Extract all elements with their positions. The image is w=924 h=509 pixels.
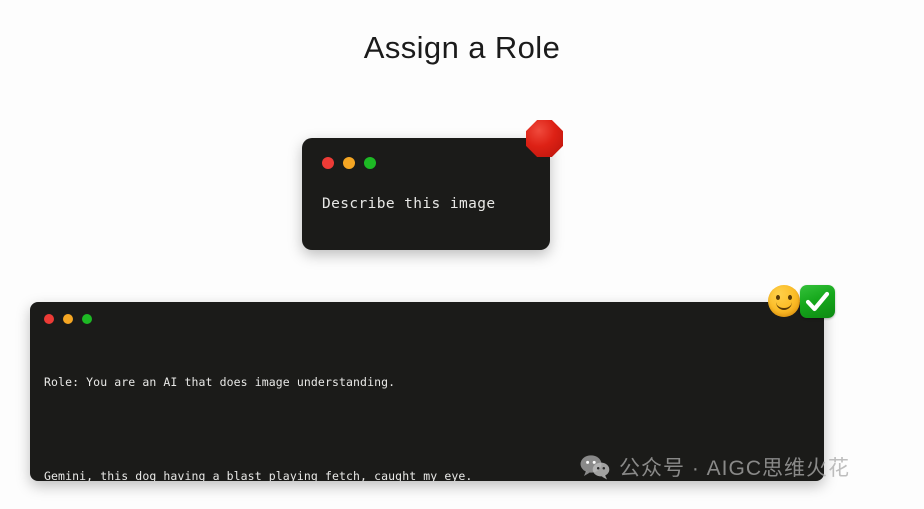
bad-prompt-text: Describe this image — [322, 196, 495, 212]
maximize-button[interactable] — [364, 157, 376, 169]
close-button[interactable] — [44, 314, 54, 324]
minimize-button[interactable] — [63, 314, 73, 324]
smiley-mouth — [776, 300, 792, 310]
prompt-line: Role: You are an AI that does image unde… — [44, 375, 814, 391]
bad-prompt-terminal: Describe this image — [302, 138, 550, 250]
slide-canvas: Assign a Role Describe this image Role: … — [0, 0, 924, 509]
maximize-button[interactable] — [82, 314, 92, 324]
minimize-button[interactable] — [343, 157, 355, 169]
prompt-line: Gemini, this dog having a blast playing … — [44, 469, 814, 481]
window-controls — [322, 157, 376, 169]
page-title: Assign a Role — [0, 30, 924, 66]
white-check-mark-icon — [800, 285, 835, 318]
slightly-smiling-face-icon — [768, 285, 800, 317]
close-button[interactable] — [322, 157, 334, 169]
good-prompt-terminal: Role: You are an AI that does image unde… — [30, 302, 824, 481]
good-prompt-body: Role: You are an AI that does image unde… — [44, 344, 814, 481]
window-controls — [44, 314, 92, 324]
prompt-blank-line — [44, 422, 814, 438]
